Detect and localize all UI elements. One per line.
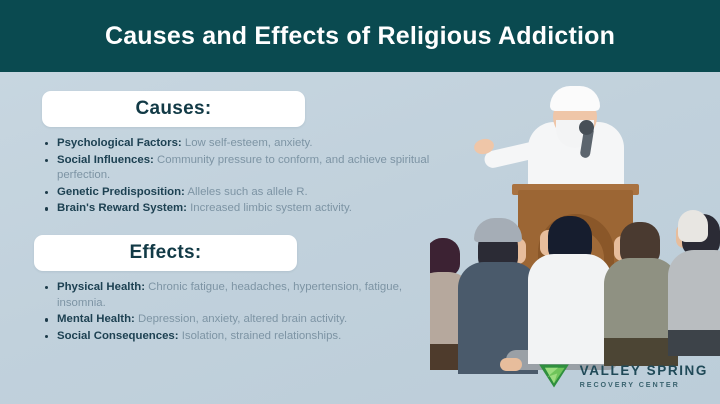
- section-heading-label: Causes:: [135, 98, 211, 120]
- brand-logo: VALLEY SPRING RECOVERY CENTER: [537, 362, 708, 390]
- list-item-label: Physical Health:: [57, 281, 145, 293]
- section-header-causes: Causes:: [42, 91, 305, 127]
- speaker-cap-icon: [550, 86, 600, 111]
- audience-figure: [528, 254, 612, 364]
- title-banner: Causes and Effects of Religious Addictio…: [0, 0, 720, 72]
- logo-subtitle: RECOVERY CENTER: [580, 381, 708, 388]
- list-item: Social Consequences: Isolation, strained…: [44, 329, 430, 345]
- list-item-text: Isolation, strained relationships.: [182, 330, 342, 342]
- logo-text-block: VALLEY SPRING RECOVERY CENTER: [580, 364, 708, 388]
- list-item: Genetic Predisposition: Alleles such as …: [44, 185, 444, 201]
- audience-head: [430, 238, 460, 276]
- list-item-label: Brain's Reward System:: [57, 202, 187, 214]
- list-item-text: Increased limbic system activity.: [190, 202, 352, 214]
- list-item: Brain's Reward System: Increased limbic …: [44, 201, 444, 217]
- list-item: Physical Health: Chronic fatigue, headac…: [44, 280, 430, 311]
- list-item-label: Social Influences:: [57, 154, 154, 166]
- list-item-label: Mental Health:: [57, 313, 135, 325]
- causes-list: Psychological Factors: Low self-esteem, …: [44, 136, 444, 218]
- sermon-illustration: [430, 72, 720, 404]
- audience-foot: [500, 358, 522, 371]
- infographic-root: Causes and Effects of Religious Addictio…: [0, 0, 720, 404]
- list-item: Social Influences: Community pressure to…: [44, 153, 444, 184]
- audience-hair: [678, 210, 708, 242]
- list-item-text: Depression, anxiety, altered brain activ…: [138, 313, 347, 325]
- audience-lap: [668, 330, 720, 356]
- list-item: Mental Health: Depression, anxiety, alte…: [44, 312, 430, 328]
- page-title: Causes and Effects of Religious Addictio…: [105, 22, 615, 51]
- effects-list: Physical Health: Chronic fatigue, headac…: [44, 280, 430, 345]
- content-column: Causes: Psychological Factors: Low self-…: [0, 72, 462, 404]
- list-item-label: Social Consequences:: [57, 330, 179, 342]
- audience-cap-icon: [474, 218, 522, 242]
- section-heading-label: Effects:: [129, 242, 201, 264]
- list-item-label: Genetic Predisposition:: [57, 186, 185, 198]
- logo-name: VALLEY SPRING: [580, 364, 708, 378]
- list-item-text: Alleles such as allele R.: [187, 186, 307, 198]
- list-item: Psychological Factors: Low self-esteem, …: [44, 136, 444, 152]
- microphone-head-icon: [579, 120, 594, 135]
- section-header-effects: Effects:: [34, 235, 297, 271]
- valley-spring-mark-icon: [537, 362, 571, 390]
- list-item-label: Psychological Factors:: [57, 137, 182, 149]
- list-item-text: Low self-esteem, anxiety.: [185, 137, 313, 149]
